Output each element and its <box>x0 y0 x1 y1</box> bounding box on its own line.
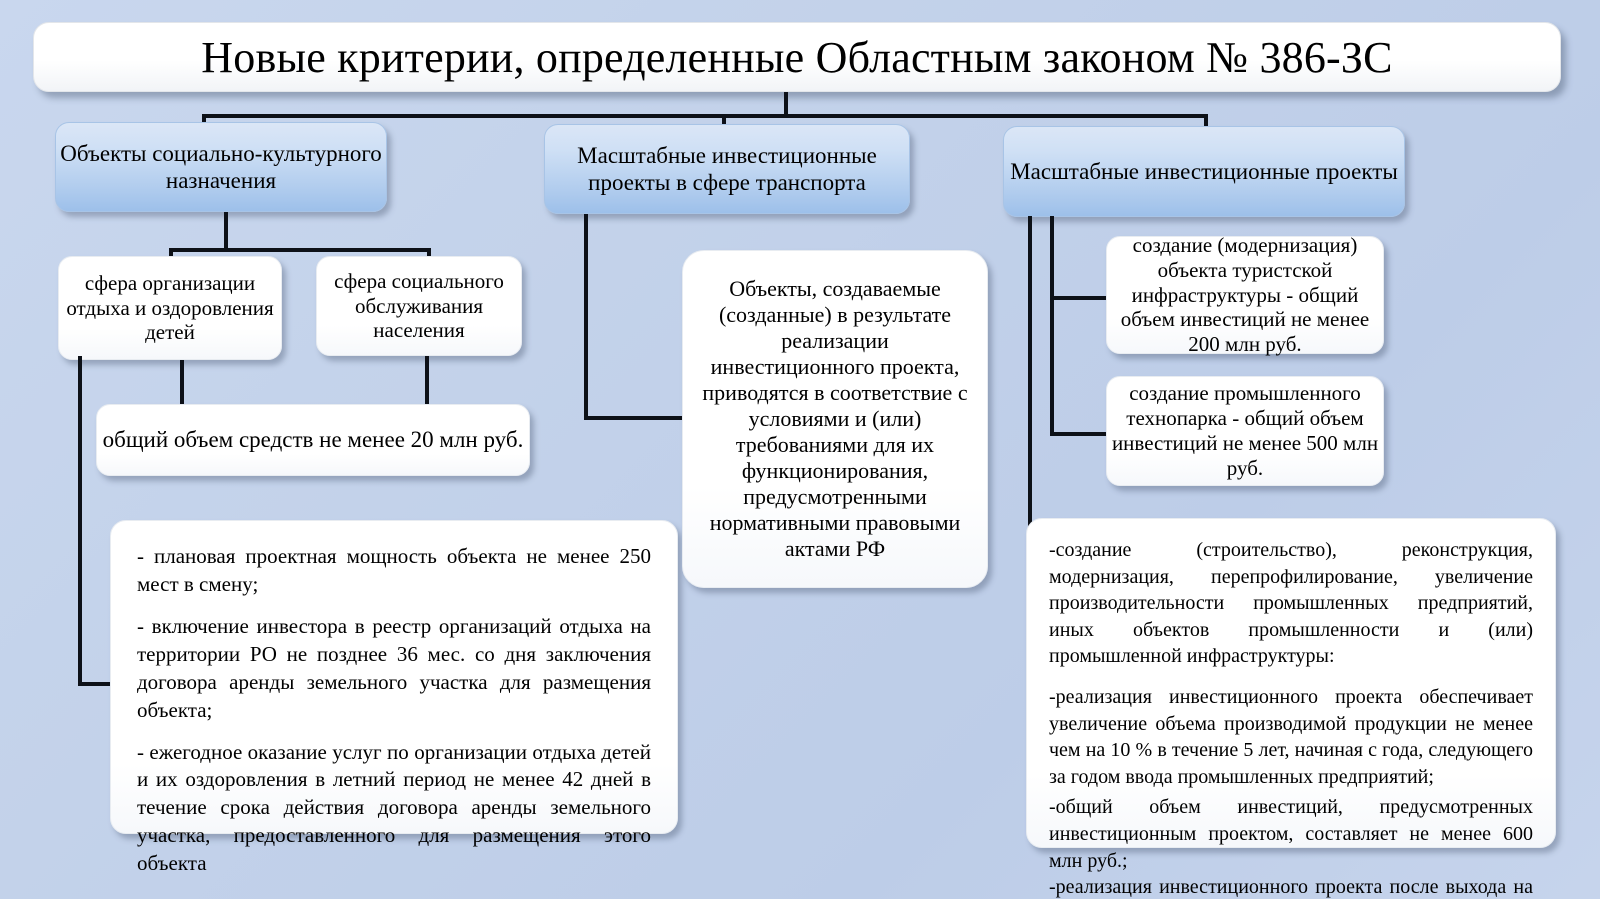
connector-recreation-to-funds <box>180 360 184 408</box>
header-box-transport-projects[interactable]: Масштабные инвестиционные проекты в сфер… <box>544 124 910 214</box>
connector-recreation-long-vertical <box>78 356 82 686</box>
label-tourism-infrastructure: создание (модернизация) объекта туристск… <box>1107 233 1383 357</box>
connector-large-to-tourism <box>1050 296 1112 300</box>
connector-transport-vertical <box>584 214 588 420</box>
box-industrial-technopark[interactable]: создание промышленного технопарка - общи… <box>1106 376 1384 486</box>
header-box-large-projects[interactable]: Масштабные инвестиционные проекты <box>1003 126 1405 217</box>
connector-large-long-vertical <box>1028 216 1032 530</box>
box-transport-requirement[interactable]: Объекты, создаваемые (созданные) в резул… <box>682 250 988 588</box>
connector-social-stem <box>224 212 228 252</box>
box-sphere-recreation[interactable]: сфера организации отдыха и оздоровления … <box>58 256 282 360</box>
label-sphere-social-service: сфера социального обслуживания населения <box>317 269 521 343</box>
box-social-criteria[interactable]: - плановая проектная мощность объекта не… <box>110 520 678 834</box>
box-large-criteria[interactable]: -создание (строительство), реконструкция… <box>1026 518 1556 848</box>
connector-large-branch-vertical <box>1050 216 1054 436</box>
header-label-social-objects: Объекты социально-культурного назначения <box>56 140 386 194</box>
label-sphere-recreation: сфера организации отдыха и оздоровления … <box>59 271 281 345</box>
large-criteria-item-2: -реализация инвестиционного проекта обес… <box>1049 684 1533 790</box>
header-label-transport-projects: Масштабные инвестиционные проекты в сфер… <box>545 142 909 196</box>
large-criteria-item-4: -реализация инвестиционного проекта посл… <box>1049 874 1533 899</box>
box-sphere-social-service[interactable]: сфера социального обслуживания населения <box>316 256 522 356</box>
connector-top-bus <box>202 114 1208 118</box>
social-criteria-item-1: - плановая проектная мощность объекта не… <box>137 543 651 599</box>
large-criteria-item-1: -создание (строительство), реконструкция… <box>1049 537 1533 670</box>
label-industrial-technopark: создание промышленного технопарка - общи… <box>1107 381 1383 480</box>
social-criteria-item-3: - ежегодное оказание услуг по организаци… <box>137 739 651 879</box>
box-funds-volume[interactable]: общий объем средств не менее 20 млн руб. <box>96 404 530 476</box>
slide-title-box: Новые критерии, определенные Областным з… <box>33 22 1561 92</box>
connector-transport-elbow <box>584 416 684 420</box>
connector-social-bus <box>169 248 431 252</box>
large-criteria-item-3: -общий объем инвестиций, предусмотренных… <box>1049 794 1533 874</box>
connector-large-to-technopark <box>1050 432 1112 436</box>
slide-canvas: Новые критерии, определенные Областным з… <box>0 0 1600 899</box>
box-tourism-infrastructure[interactable]: создание (модернизация) объекта туристск… <box>1106 236 1384 354</box>
slide-title-text: Новые критерии, определенные Областным з… <box>201 32 1392 83</box>
header-box-social-objects[interactable]: Объекты социально-культурного назначения <box>55 122 387 212</box>
label-transport-requirement: Объекты, создаваемые (созданные) в резул… <box>683 276 987 561</box>
label-funds-volume: общий объем средств не менее 20 млн руб. <box>103 426 524 453</box>
social-criteria-item-2: - включение инвестора в реестр организац… <box>137 613 651 725</box>
connector-social-service-to-funds <box>425 356 429 408</box>
header-label-large-projects: Масштабные инвестиционные проекты <box>1010 158 1398 185</box>
